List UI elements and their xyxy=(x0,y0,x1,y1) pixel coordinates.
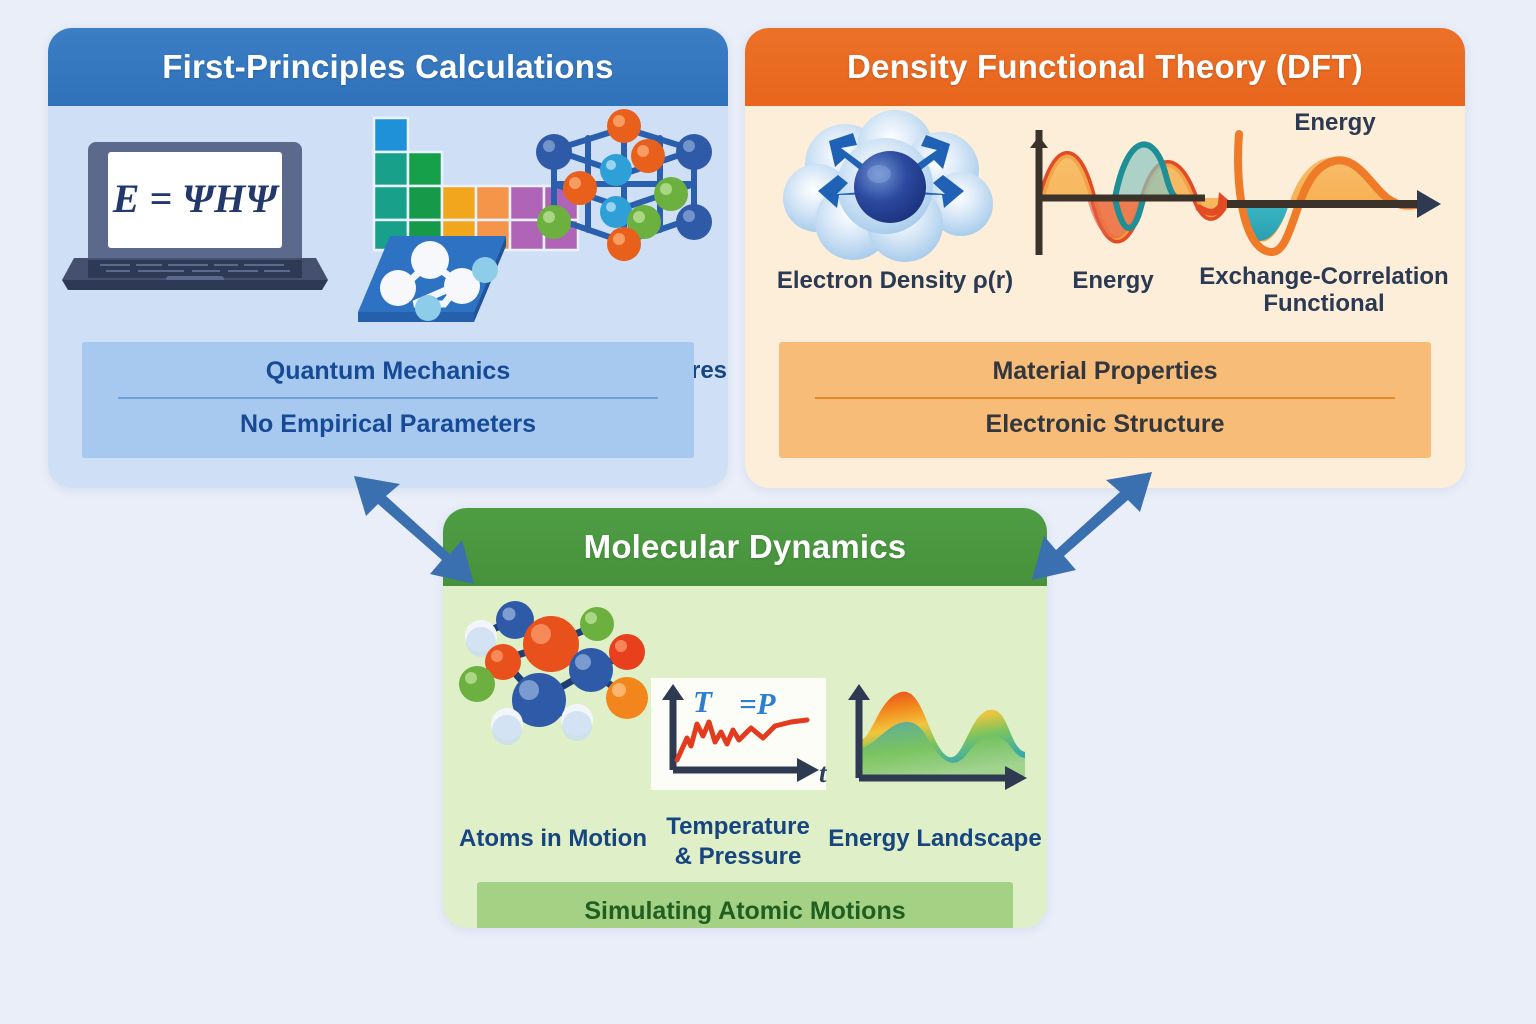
panel-first-principles: First-Principles Calculations E = ΨHΨ xyxy=(48,28,728,488)
wavefunction-plot-icon xyxy=(1023,120,1231,270)
temperature-pressure-label-line1: Temperature xyxy=(643,814,833,841)
panel-md-title: Molecular Dynamics xyxy=(443,508,1047,586)
temperature-axis-symbol: T xyxy=(693,684,713,719)
infographic-canvas: First-Principles Calculations E = ΨHΨ xyxy=(0,0,1536,1024)
xc-functional-plot-label: Exchange-Correlation Functional xyxy=(1185,264,1463,318)
footer-line-1: Simulating Atomic Motions xyxy=(477,892,1013,928)
footer-line-1: Material Properties xyxy=(779,352,1431,391)
md-footer: Simulating Atomic Motions Time Evolution xyxy=(443,882,1047,928)
surface-slab-icon xyxy=(348,224,518,334)
arrow-md-to-dft xyxy=(1008,462,1168,582)
laptop-equation-icon: E = ΨHΨ xyxy=(58,124,333,299)
panel-molecular-dynamics: Molecular Dynamics xyxy=(443,508,1047,928)
energy-landscape-label: Energy Landscape xyxy=(825,826,1045,853)
crystal-lattice-icon xyxy=(528,112,714,280)
footer-line-2: No Empirical Parameters xyxy=(82,405,694,444)
pressure-axis-symbol: =P xyxy=(739,686,777,721)
laptop-equation-text: E = ΨHΨ xyxy=(112,176,281,221)
first-principles-footer: Quantum Mechanics No Empirical Parameter… xyxy=(48,342,728,458)
temperature-pressure-plot-icon: T =P t xyxy=(651,678,837,796)
electron-cloud-icon xyxy=(775,112,1005,272)
panel-first-principles-title: First-Principles Calculations xyxy=(48,28,728,106)
molecule-cluster-icon xyxy=(459,596,649,751)
arrow-first-principles-to-md xyxy=(338,466,498,586)
dft-footer: Material Properties Electronic Structure xyxy=(745,342,1465,458)
xc-functional-plot-icon xyxy=(1211,124,1447,270)
panel-density-functional-theory: Density Functional Theory (DFT) xyxy=(745,28,1465,488)
footer-line-2: Electronic Structure xyxy=(779,405,1431,444)
footer-divider xyxy=(118,397,658,399)
time-axis-symbol: t xyxy=(819,758,828,788)
electron-cloud-label: Electron Density ρ(r) xyxy=(755,268,1035,295)
wavefunction-plot-label: Energy xyxy=(1023,268,1203,295)
panel-dft-title: Density Functional Theory (DFT) xyxy=(745,28,1465,106)
molecule-cluster-label: Atoms in Motion xyxy=(443,826,663,853)
energy-landscape-plot-icon xyxy=(843,678,1033,798)
temperature-pressure-label-line2: & Pressure xyxy=(643,844,833,871)
footer-line-1: Quantum Mechanics xyxy=(82,352,694,391)
footer-divider xyxy=(815,397,1395,399)
